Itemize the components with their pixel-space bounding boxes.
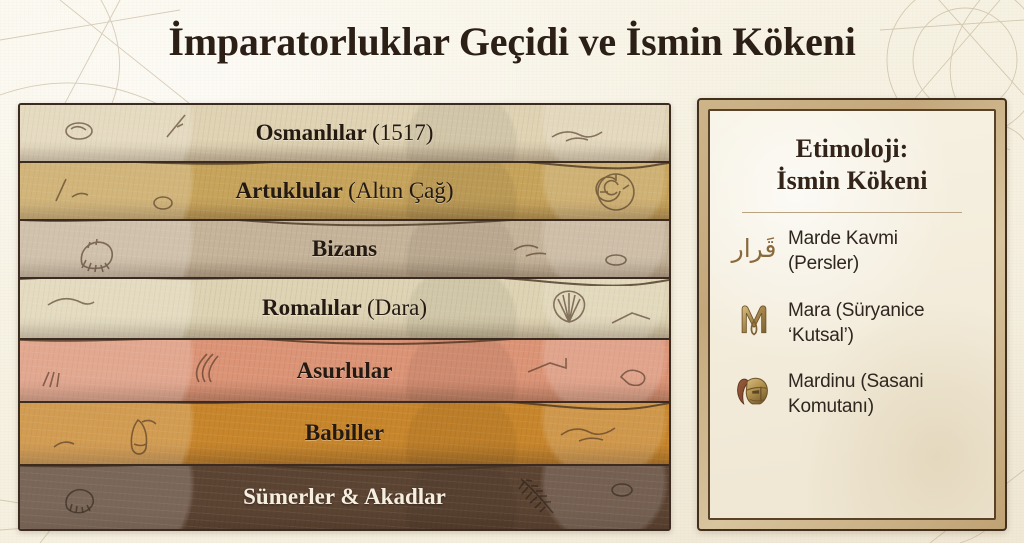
strata-layer-label: Sümerler & Akadlar [243, 484, 446, 510]
pebble-icon [150, 194, 176, 212]
syriac-letter-m-icon [734, 299, 774, 341]
ammonite-fossil-icon [595, 171, 637, 213]
sediment-streak-icon [559, 417, 617, 447]
etymology-item-text: Marde Kavmi (Persler) [788, 227, 898, 276]
etymology-item[interactable]: Mardinu (Sasani Komutanı) [734, 370, 974, 419]
sediment-streak-icon [512, 238, 552, 260]
etymology-item[interactable]: Mara (Süryanice ‘Kutsal’) [734, 299, 974, 348]
etymology-item-text: Mara (Süryanice ‘Kutsal’) [788, 299, 924, 348]
stratum-boundary [20, 277, 669, 286]
pebble-icon [59, 118, 99, 144]
sediment-streak-icon [550, 123, 604, 147]
strata-layer-label: Babiller [305, 420, 384, 446]
strata-layer-sumerler-akadlar[interactable]: Sümerler & Akadlar [20, 464, 669, 529]
sediment-streak-icon [46, 289, 96, 315]
stratum-boundary [20, 464, 669, 473]
crack-icon [52, 175, 92, 205]
strata-layer-label: Osmanlılar (1517) [256, 120, 434, 146]
strata-layer-label: Artuklular (Altın Çağ) [235, 178, 453, 204]
crack-icon [526, 354, 578, 382]
stratum-boundary [20, 401, 669, 410]
strata-layer-artuklular[interactable]: Artuklular (Altın Çağ) [20, 161, 669, 220]
pebble-icon [607, 480, 637, 500]
page-title: İmparatorluklar Geçidi ve İsmin Kökeni [0, 18, 1024, 65]
crack-icon [163, 111, 197, 141]
etymology-divider [742, 212, 962, 213]
strata-layer-asurlular[interactable]: Asurlular [20, 338, 669, 401]
strata-layer-romalilar[interactable]: Romalılar (Dara) [20, 277, 669, 338]
pebble-icon [602, 252, 630, 268]
flame-motif-icon [189, 350, 223, 386]
strata-layer-babiller[interactable]: Babiller [20, 401, 669, 464]
stratum-boundary [20, 338, 669, 347]
ammonite-fossil-icon [59, 482, 105, 518]
stratum-boundary [20, 161, 669, 170]
arabic-calligraphy-icon: قَرار [734, 227, 774, 269]
crack-icon [610, 307, 656, 329]
sasanian-helmet-icon [734, 370, 774, 412]
strata-stack: Osmanlılar (1517) Artuklular (Altın Çağ) [18, 103, 671, 531]
etymology-title: Etimoloji: İsmin Kökeni [730, 133, 974, 196]
scallop-shell-fossil-icon [547, 288, 591, 326]
etymology-card: Etimoloji: İsmin Kökeni قَرار Marde Kavm… [697, 98, 1007, 531]
poster-canvas: İmparatorluklar Geçidi ve İsmin Kökeni O… [0, 0, 1024, 543]
pottery-shard-icon [124, 414, 160, 460]
etymology-title-line1: Etimoloji: [730, 133, 974, 165]
trilobite-fossil-icon [72, 234, 120, 274]
strata-layer-label: Asurlular [297, 358, 393, 384]
etymology-item-text: Mardinu (Sasani Komutanı) [788, 370, 923, 419]
crack-icon [52, 433, 92, 455]
fern-leaf-fossil-icon [513, 473, 565, 519]
strata-layer-label: Bizans [312, 236, 377, 262]
strata-layer-label: Romalılar (Dara) [262, 295, 427, 321]
strata-layer-osmanlilar[interactable]: Osmanlılar (1517) [20, 105, 669, 161]
stratum-boundary [20, 219, 669, 228]
etymology-list: قَرار Marde Kavmi (Persler) [730, 227, 974, 419]
pebble-icon [616, 364, 650, 386]
etymology-title-line2: İsmin Kökeni [730, 165, 974, 197]
bone-fragment-icon [39, 362, 79, 392]
strata-layer-bizans[interactable]: Bizans [20, 219, 669, 276]
etymology-item[interactable]: قَرار Marde Kavmi (Persler) [734, 227, 974, 276]
